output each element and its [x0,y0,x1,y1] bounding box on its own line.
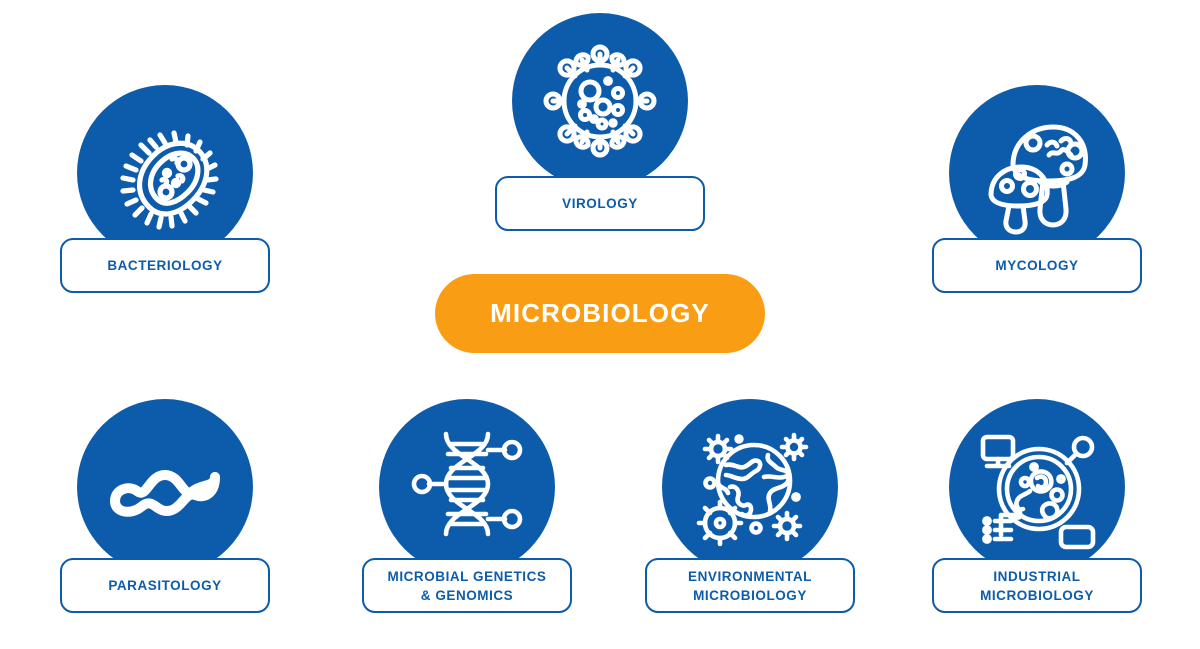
branch-label-box-bacteriology[interactable]: BACTERIOLOGY [60,238,270,293]
center-badge-label: MICROBIOLOGY [490,298,710,329]
branch-label-virology: VIROLOGY [562,194,638,213]
microbiology-branches-diagram: BACTERIOLOGY [0,0,1200,649]
bacteriology-circle[interactable] [77,85,253,261]
environmental-microbiology-circle[interactable] [662,399,838,575]
branch-label-microbial-genetics-genomics: MICROBIAL GENETICS & GENOMICS [388,567,547,605]
microbial-genetics-circle[interactable] [379,399,555,575]
globe-microbes-icon [686,423,814,551]
branch-label-box-mycology[interactable]: MYCOLOGY [932,238,1142,293]
mushroom-icon [975,111,1099,235]
branch-label-parasitology: PARASITOLOGY [108,576,221,595]
branch-label-mycology: MYCOLOGY [995,256,1078,275]
virology-circle[interactable] [512,13,688,189]
branch-label-environmental-microbiology: ENVIRONMENTAL MICROBIOLOGY [688,567,812,605]
mycology-circle[interactable] [949,85,1125,261]
dna-helix-icon [404,424,530,550]
branch-label-box-microbial-genetics-genomics[interactable]: MICROBIAL GENETICS & GENOMICS [362,558,572,613]
bacterium-icon [105,113,225,233]
center-badge-microbiology[interactable]: MICROBIOLOGY [435,274,765,353]
branch-label-industrial-microbiology: INDUSTRIAL MICROBIOLOGY [980,567,1094,605]
worm-icon [103,425,227,549]
branch-label-box-environmental-microbiology[interactable]: ENVIRONMENTAL MICROBIOLOGY [645,558,855,613]
branch-label-box-virology[interactable]: VIROLOGY [495,176,705,231]
virus-icon [537,38,663,164]
branch-label-bacteriology: BACTERIOLOGY [107,256,222,275]
petri-dish-data-icon [973,423,1101,551]
parasitology-circle[interactable] [77,399,253,575]
branch-label-box-industrial-microbiology[interactable]: INDUSTRIAL MICROBIOLOGY [932,558,1142,613]
industrial-microbiology-circle[interactable] [949,399,1125,575]
branch-label-box-parasitology[interactable]: PARASITOLOGY [60,558,270,613]
